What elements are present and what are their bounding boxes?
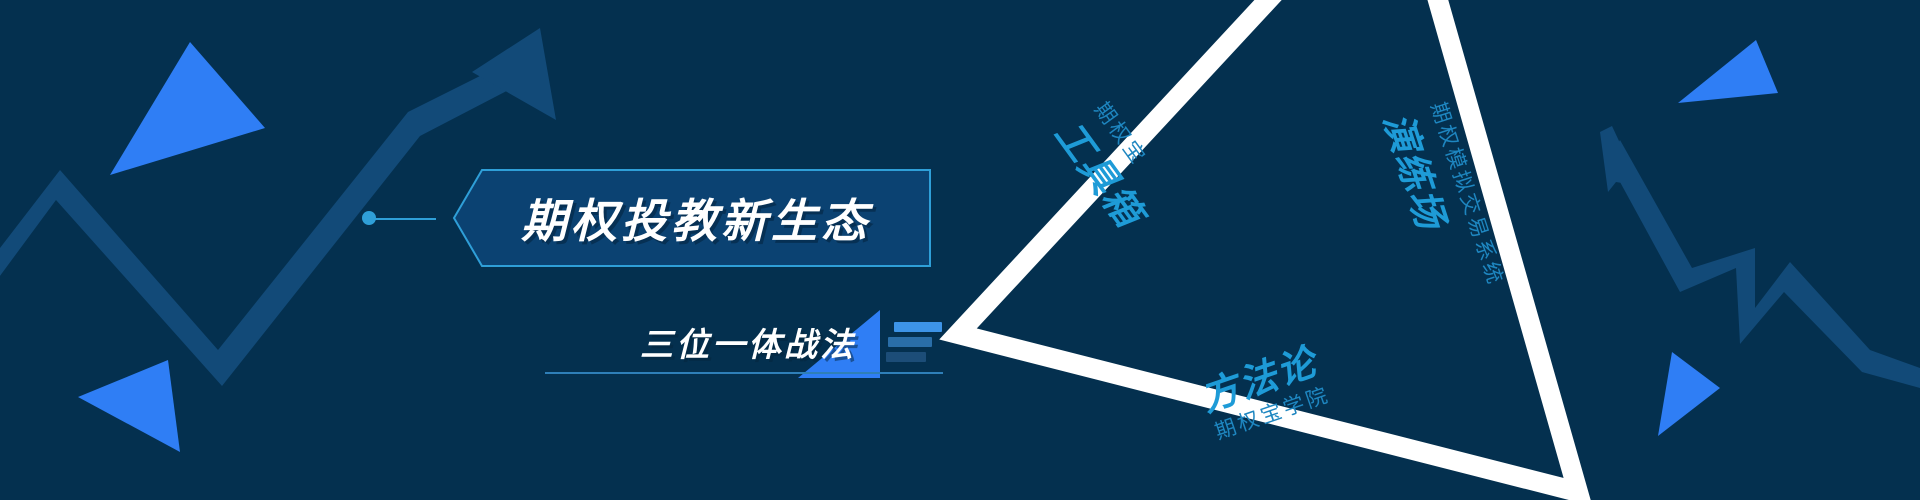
bar-3: [886, 352, 926, 362]
bar-1: [894, 322, 942, 332]
subtitle-underline: [545, 372, 943, 374]
three-bars-icon: [886, 322, 942, 362]
promo-banner: 期权宝 工具箱 期权模拟交易系统 演练场 方法论 期权宝学院 期权投教新生态 三…: [0, 0, 1920, 500]
dot-connector-line: [374, 218, 436, 220]
bar-2: [888, 337, 932, 347]
page-title-text: 期权投教新生态: [452, 168, 932, 268]
strategy-triangle: [0, 0, 1920, 500]
subtitle-row: 三位一体战法: [640, 318, 942, 366]
page-title: 期权投教新生态: [452, 168, 932, 268]
subtitle-text: 三位一体战法: [640, 318, 856, 366]
